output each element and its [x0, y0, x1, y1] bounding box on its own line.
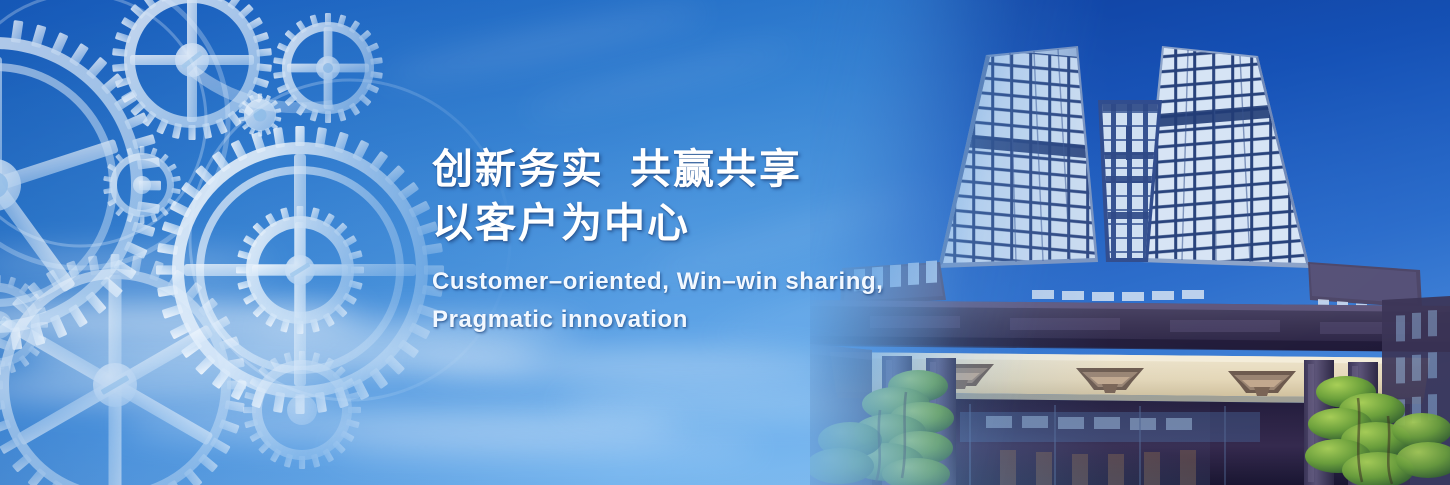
headline-line-1: 创新务实共赢共享 [432, 142, 884, 196]
subtitle-line-2: Pragmatic innovation [432, 301, 884, 339]
headline-phrase-1: 创新务实 [432, 146, 604, 192]
office-tower-photograph [810, 0, 1450, 485]
subtitle-line-1: Customer–oriented, Win–win sharing, [432, 263, 884, 301]
hero-banner: 创新务实共赢共享 以客户为中心 Customer–oriented, Win–w… [0, 0, 1450, 485]
headline-line-2: 以客户为中心 [432, 196, 884, 250]
banner-copy: 创新务实共赢共享 以客户为中心 Customer–oriented, Win–w… [432, 142, 884, 339]
headline-phrase-2: 共赢共享 [630, 146, 802, 192]
